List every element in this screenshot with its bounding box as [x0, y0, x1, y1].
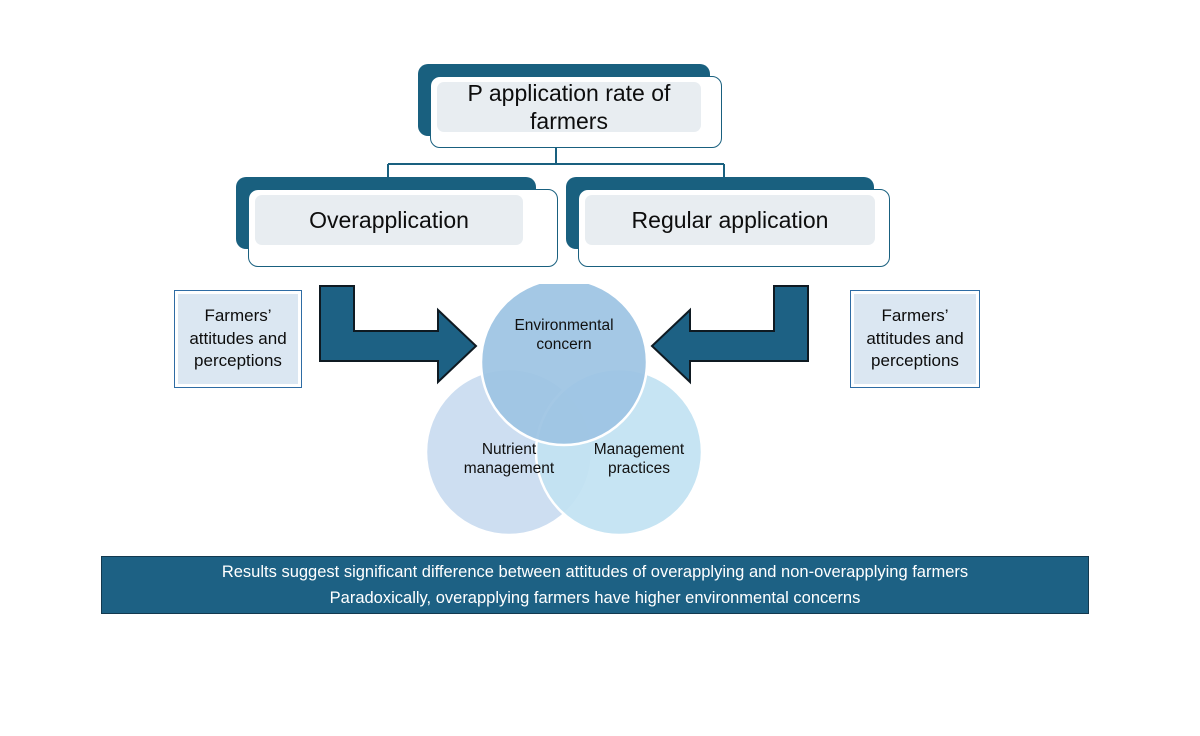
left-elbow-arrow [318, 284, 478, 389]
note-box-right[interactable]: Farmers’ attitudes and perceptions [850, 290, 980, 388]
branch-regular-panel: Regular application [585, 195, 875, 245]
diagram-canvas: P application rate of farmers Overapplic… [0, 0, 1200, 736]
note-box-left-fill: Farmers’ attitudes and perceptions [178, 294, 298, 384]
root-card-label-panel: P application rate of farmers [437, 82, 701, 132]
conclusion-banner: Results suggest significant difference b… [101, 556, 1089, 614]
root-card-label: P application rate of farmers [437, 79, 701, 135]
conclusion-banner-line2: Paradoxically, overapplying farmers have… [330, 585, 861, 611]
branch-overapplication-label: Overapplication [309, 206, 469, 234]
note-box-left-label: Farmers’ attitudes and perceptions [178, 305, 298, 372]
branch-regular-label: Regular application [632, 206, 829, 234]
note-box-left[interactable]: Farmers’ attitudes and perceptions [174, 290, 302, 388]
note-box-right-label: Farmers’ attitudes and perceptions [854, 305, 976, 372]
conclusion-banner-line1: Results suggest significant difference b… [222, 559, 968, 585]
venn-circle-environmental-concern [481, 284, 647, 445]
branch-overapplication-panel: Overapplication [255, 195, 523, 245]
note-box-right-fill: Farmers’ attitudes and perceptions [854, 294, 976, 384]
right-elbow-arrow [650, 284, 810, 389]
